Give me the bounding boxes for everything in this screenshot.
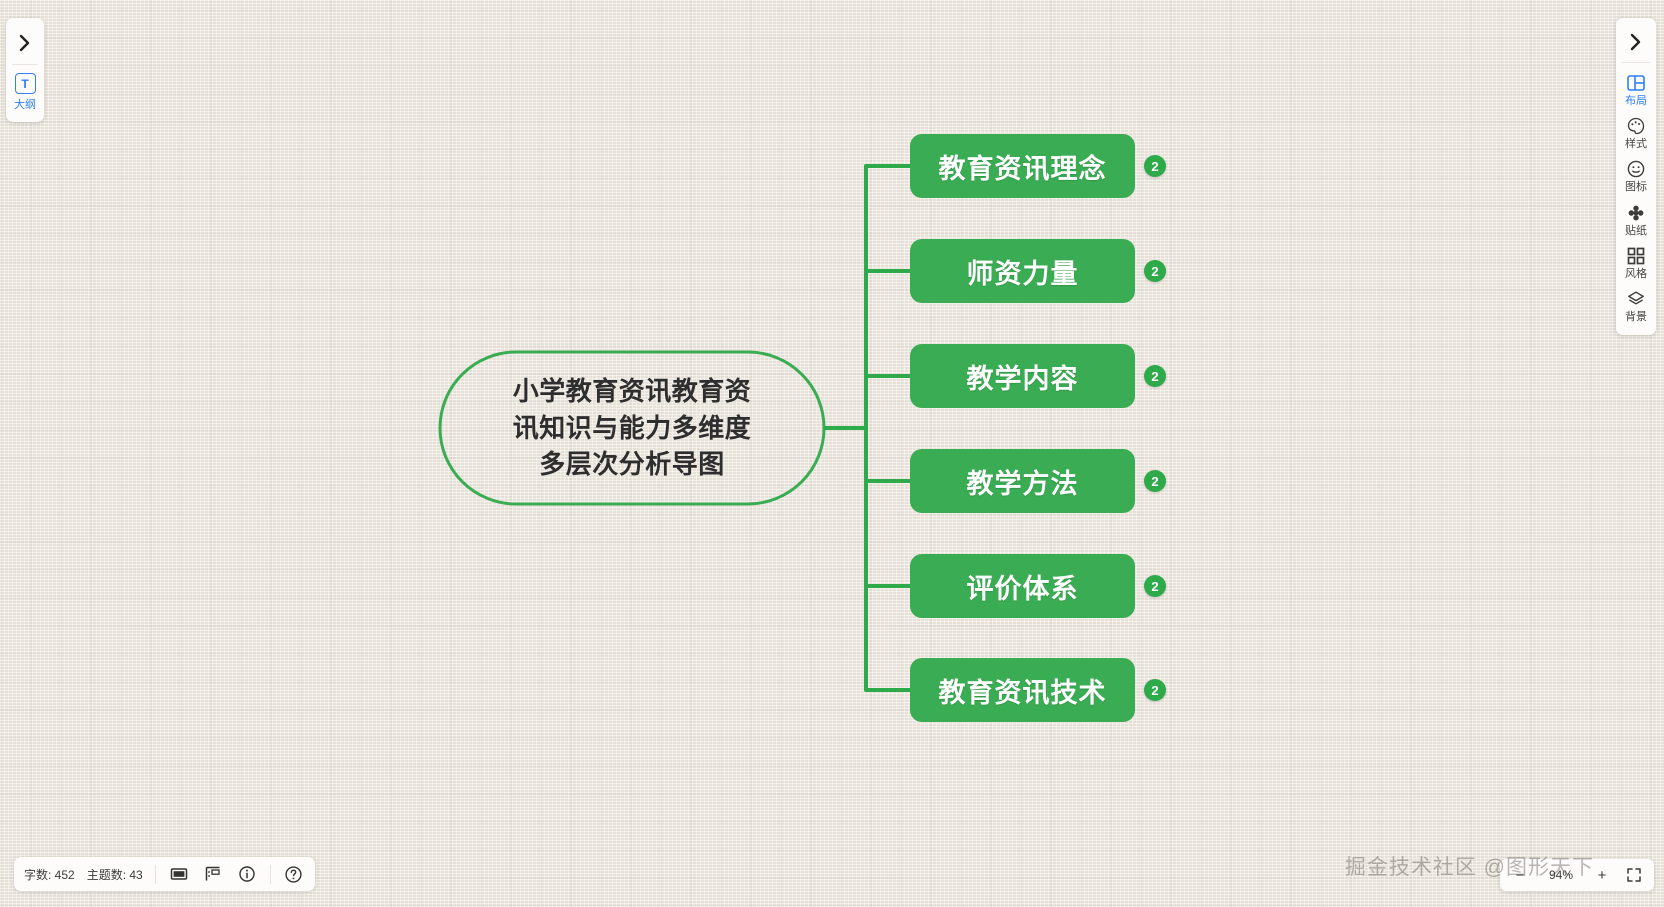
chevron-right-icon bbox=[1630, 33, 1642, 51]
sidebar-item-outline-label: 大纲 bbox=[14, 96, 36, 112]
left-tool-panel[interactable]: T 大纲 bbox=[6, 18, 44, 122]
outline-text-icon: T bbox=[15, 73, 36, 94]
ruler-layout-icon[interactable] bbox=[202, 863, 224, 885]
status-bar: 字数: 452 主题数: 43 bbox=[14, 857, 315, 891]
presentation-icon[interactable] bbox=[168, 863, 190, 885]
palette-icon bbox=[1625, 115, 1647, 137]
mindmap-graph[interactable] bbox=[0, 0, 1664, 907]
branch-node-2[interactable] bbox=[910, 239, 1135, 303]
root-line-3: 多层次分析导图 bbox=[539, 446, 725, 483]
sticker-flower-icon bbox=[1625, 202, 1647, 224]
sidebar-item-background[interactable]: 背景 bbox=[1616, 284, 1656, 327]
collapse-badge-1[interactable]: 2 bbox=[1144, 155, 1166, 177]
right-panel-expand-button[interactable] bbox=[1622, 23, 1650, 61]
zoom-toolbar[interactable]: − 94% + bbox=[1500, 859, 1654, 891]
chevron-right-icon bbox=[19, 34, 31, 52]
status-bar-divider-2 bbox=[270, 865, 271, 884]
word-count-label: 字数: 452 bbox=[24, 866, 75, 883]
layers-icon bbox=[1625, 288, 1647, 310]
branch-node-5[interactable] bbox=[910, 554, 1135, 618]
right-tool-panel[interactable]: 布局 样式 图标 bbox=[1616, 18, 1656, 335]
root-line-1: 小学教育资讯教育资 bbox=[513, 373, 752, 410]
sidebar-item-outline[interactable]: T 大纲 bbox=[14, 71, 36, 114]
fullscreen-icon[interactable] bbox=[1624, 865, 1644, 885]
sidebar-item-sticker-label: 贴纸 bbox=[1625, 225, 1647, 238]
sidebar-item-theme-label: 风格 bbox=[1625, 268, 1647, 281]
sidebar-item-layout-label: 布局 bbox=[1625, 95, 1647, 108]
collapse-badge-5[interactable]: 2 bbox=[1144, 575, 1166, 597]
sidebar-item-icon[interactable]: 图标 bbox=[1616, 154, 1656, 197]
zoom-out-button[interactable]: − bbox=[1510, 865, 1530, 885]
sidebar-item-sticker[interactable]: 贴纸 bbox=[1616, 198, 1656, 241]
right-panel-divider bbox=[1622, 62, 1650, 63]
collapse-badge-6[interactable]: 2 bbox=[1144, 679, 1166, 701]
branch-node-1[interactable] bbox=[910, 134, 1135, 198]
branch-node-6[interactable] bbox=[910, 658, 1135, 722]
sidebar-item-style[interactable]: 样式 bbox=[1616, 111, 1656, 154]
layout-icon bbox=[1625, 72, 1647, 94]
collapse-badge-3[interactable]: 2 bbox=[1144, 365, 1166, 387]
left-panel-divider bbox=[12, 64, 38, 65]
zoom-in-button[interactable]: + bbox=[1592, 865, 1612, 885]
branch-node-4[interactable] bbox=[910, 449, 1135, 513]
sidebar-item-icon-label: 图标 bbox=[1625, 181, 1647, 194]
sidebar-item-style-label: 样式 bbox=[1625, 138, 1647, 151]
grid-squares-icon bbox=[1625, 245, 1647, 267]
branch-node-3[interactable] bbox=[910, 344, 1135, 408]
status-bar-divider-1 bbox=[155, 865, 156, 884]
zoom-level-label: 94% bbox=[1542, 868, 1580, 882]
root-line-2: 讯知识与能力多维度 bbox=[513, 410, 752, 447]
left-panel-expand-button[interactable] bbox=[12, 24, 38, 62]
collapse-badge-4[interactable]: 2 bbox=[1144, 470, 1166, 492]
topic-count-label: 主题数: 43 bbox=[87, 866, 143, 883]
sidebar-item-layout[interactable]: 布局 bbox=[1616, 68, 1656, 111]
collapse-badge-2[interactable]: 2 bbox=[1144, 260, 1166, 282]
sidebar-item-background-label: 背景 bbox=[1625, 311, 1647, 324]
root-node-text[interactable]: 小学教育资讯教育资 讯知识与能力多维度 多层次分析导图 bbox=[452, 358, 812, 498]
sidebar-item-theme[interactable]: 风格 bbox=[1616, 241, 1656, 284]
info-icon[interactable] bbox=[236, 863, 258, 885]
help-icon[interactable] bbox=[283, 863, 305, 885]
smiley-icon bbox=[1625, 158, 1647, 180]
